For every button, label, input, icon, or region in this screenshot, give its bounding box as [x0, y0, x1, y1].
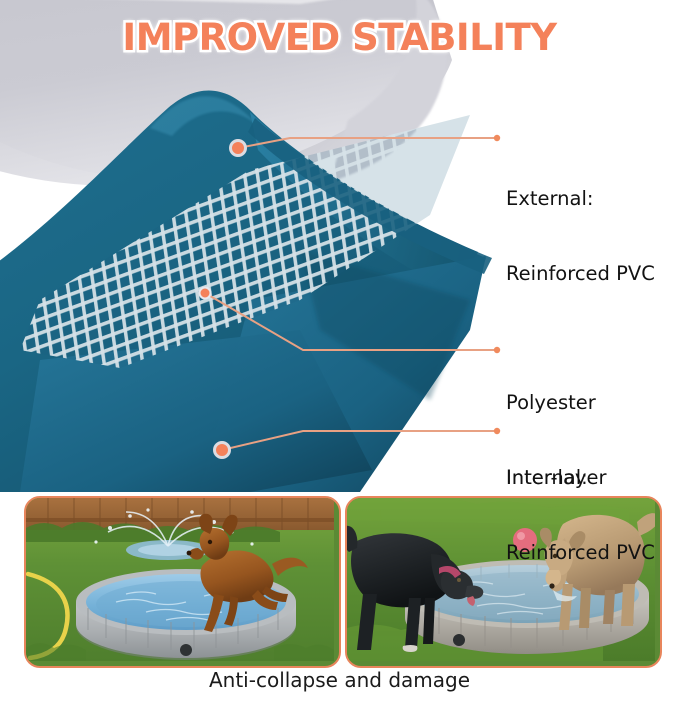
callout-label-external: External: Reinforced PVC	[506, 136, 655, 336]
callout-internal-line2: Reinforced PVC	[506, 540, 655, 565]
leader-endpoint-polyester	[494, 347, 500, 353]
leader-dot-external	[231, 141, 246, 156]
dog-black-leg-front2	[423, 598, 435, 644]
leader-endpoint-internal	[494, 428, 500, 434]
dog-black-paw	[403, 645, 418, 652]
leader-dot-polyester	[200, 288, 211, 299]
infographic-root: IMPROVED STABILITY External: Reinforced …	[0, 0, 679, 702]
callout-label-internal: Internal: Reinforced PVC	[506, 415, 655, 615]
fence-rail	[26, 518, 334, 522]
drain-plug	[180, 644, 192, 656]
leader-dot-internal	[215, 443, 230, 458]
leader-endpoint-external	[494, 135, 500, 141]
callout-polyester-line1: Polyester	[506, 390, 606, 415]
photo-dog-jumping-into-pool	[24, 496, 341, 668]
photo-left-illustration	[26, 498, 334, 661]
drain-plug	[453, 634, 465, 646]
footer-caption: Anti-collapse and damage	[0, 668, 679, 692]
callout-internal-line1: Internal:	[506, 465, 655, 490]
callout-external-line1: External:	[506, 186, 655, 211]
dog-black-eye	[457, 578, 461, 582]
dog-eye	[208, 540, 212, 544]
callout-external-line2: Reinforced PVC	[506, 261, 655, 286]
dog-nose	[187, 551, 192, 556]
